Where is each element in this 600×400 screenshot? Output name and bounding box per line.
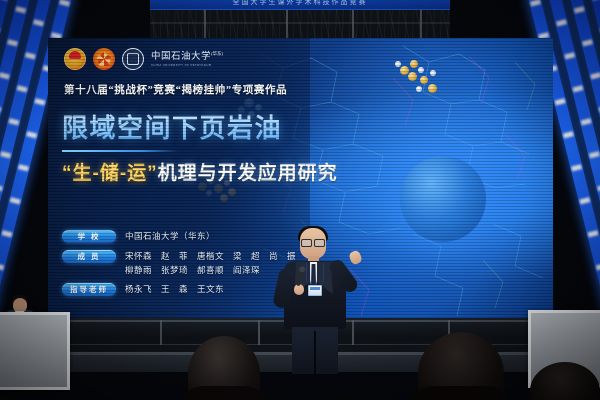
communist-youth-league-emblem-icon xyxy=(64,48,86,70)
info-row-school: 学 校 中国石油大学（华东） xyxy=(62,230,296,243)
info-label-school: 学 校 xyxy=(62,230,116,243)
info-row-members: 成 员 宋怀森 赵 菲 唐楷文 梁 超 尚 振 柳静雨 张梦琦 郝喜顺 阎泽琛 xyxy=(62,250,296,276)
project-info-table: 学 校 中国石油大学（华东） 成 员 宋怀森 赵 菲 唐楷文 梁 超 尚 振 柳… xyxy=(62,230,296,296)
university-wordmark: 中国石油大学(华东) CHINA UNIVERSITY OF PETROLEUM xyxy=(151,52,223,67)
presenter xyxy=(268,228,364,374)
logo-row: 中国石油大学(华东) CHINA UNIVERSITY OF PETROLEUM xyxy=(64,48,223,70)
presenter-gesturing-hand xyxy=(348,250,363,266)
info-row-advisors: 指导老师 杨永飞 王 森 王文东 xyxy=(62,283,296,296)
nanopore-sphere xyxy=(400,156,486,242)
china-university-of-petroleum-emblem-icon xyxy=(122,48,144,70)
info-value: 中国石油大学（华东） xyxy=(125,230,215,242)
project-title-line-2: “生-储-运”机理与开发应用研究 xyxy=(62,158,338,185)
university-name-en: CHINA UNIVERSITY OF PETROLEUM xyxy=(151,64,223,67)
info-label-advisors: 指导老师 xyxy=(62,283,116,296)
project-title-rest: 机理与开发应用研究 xyxy=(158,163,338,184)
credential-badge xyxy=(308,285,322,296)
stage-photo: 全国大学生课外学术科技作品竞赛 xyxy=(0,0,600,400)
university-name-cn: 中国石油大学(华东) xyxy=(151,52,223,63)
title-divider xyxy=(62,150,178,152)
confidence-monitor-left xyxy=(0,312,70,390)
cnpc-emblem-icon xyxy=(93,48,115,70)
info-label-members: 成 员 xyxy=(62,250,116,263)
overhead-banner-text: 全国大学生课外学术科技作品竞赛 xyxy=(148,0,452,7)
glasses-icon xyxy=(301,239,325,245)
info-values-school: 中国石油大学（华东） xyxy=(125,230,215,242)
info-value: 杨永飞 王 森 王文东 xyxy=(125,283,224,295)
overhead-banner: 全国大学生课外学术科技作品竞赛 xyxy=(148,0,452,10)
info-values-advisors: 杨永飞 王 森 王文东 xyxy=(125,283,224,295)
competition-banner-line: 第十八届“挑战杯”竞赛“揭榜挂帅”专项赛作品 xyxy=(64,82,287,97)
project-title-line-1: 限域空间下页岩油 xyxy=(62,108,282,145)
project-title-quoted: “生-储-运” xyxy=(62,163,158,184)
lanyard xyxy=(306,263,324,285)
